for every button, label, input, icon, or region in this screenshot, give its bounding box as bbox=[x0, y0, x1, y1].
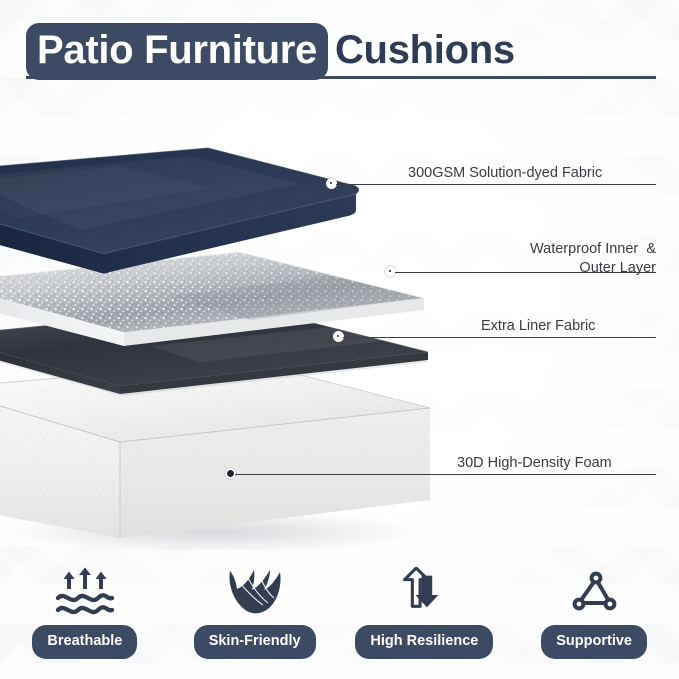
feature-label-breathable[interactable]: Breathable bbox=[32, 625, 137, 659]
breathable-airflow-waves-icon bbox=[54, 566, 116, 618]
title-underline-rule bbox=[26, 76, 656, 79]
infographic-page: Patio Furniture Cushions bbox=[0, 0, 679, 679]
feature-high-resilience[interactable]: High Resilience bbox=[340, 556, 510, 679]
exploded-cushion-layer-diagram bbox=[0, 100, 460, 550]
triangle-nodes-icon bbox=[569, 566, 619, 618]
page-title: Patio Furniture Cushions bbox=[26, 23, 515, 80]
feature-label-high-resilience[interactable]: High Resilience bbox=[355, 625, 493, 659]
top-navy-fabric-layer bbox=[0, 148, 359, 274]
feather-icon bbox=[227, 566, 283, 618]
feature-badge-row: Breathable Skin-Friendly bbox=[0, 556, 679, 679]
up-down-arrows-icon bbox=[399, 566, 449, 618]
callout-label-foam: 30D High-Density Foam bbox=[457, 453, 612, 473]
feature-skin-friendly[interactable]: Skin-Friendly bbox=[170, 556, 340, 679]
feature-supportive[interactable]: Supportive bbox=[509, 556, 679, 679]
high-density-foam-block bbox=[0, 362, 430, 538]
title-highlight-badge: Patio Furniture bbox=[26, 23, 328, 80]
callout-leader-foam bbox=[235, 474, 656, 475]
callout-label-fabric: 300GSM Solution-dyed Fabric bbox=[408, 163, 602, 183]
title-plain-text: Cushions bbox=[328, 30, 515, 70]
header: Patio Furniture Cushions bbox=[0, 0, 679, 84]
feature-label-skin-friendly[interactable]: Skin-Friendly bbox=[194, 625, 316, 659]
feature-breathable[interactable]: Breathable bbox=[0, 556, 170, 679]
callout-leader-fabric bbox=[336, 184, 656, 185]
callout-label-waterproof-line2: Outer Layer bbox=[366, 258, 656, 278]
callout-label-liner: Extra Liner Fabric bbox=[481, 316, 595, 336]
feature-label-supportive[interactable]: Supportive bbox=[541, 625, 647, 659]
callout-leader-liner bbox=[343, 337, 656, 338]
callout-label-waterproof-line1: Waterproof Inner & bbox=[366, 239, 656, 259]
